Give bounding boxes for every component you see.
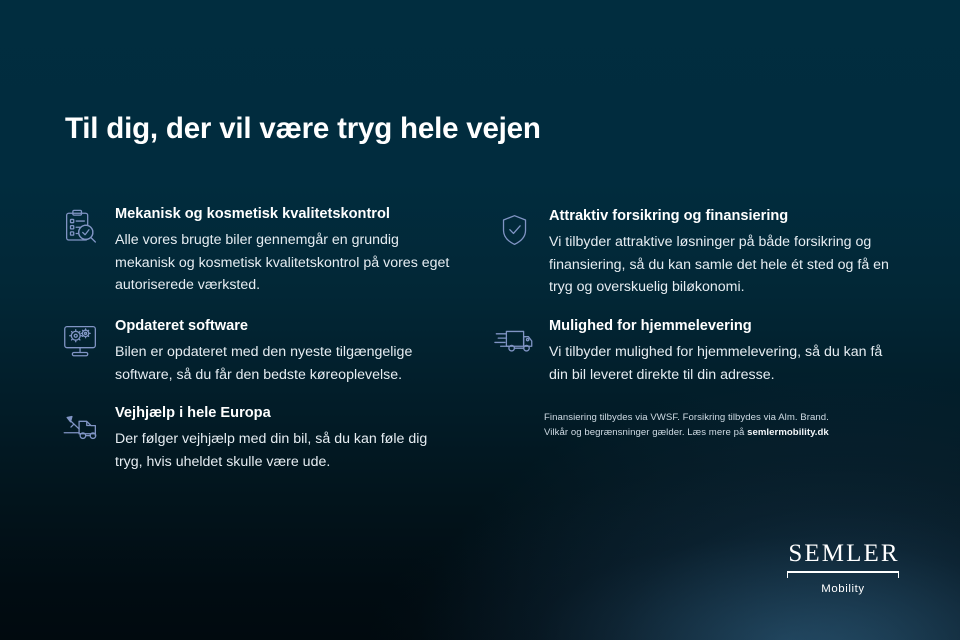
feature-title: Mekanisk og kosmetisk kvalitetskontrol [115, 205, 458, 224]
feature-title: Mulighed for hjemmelevering [549, 317, 902, 336]
fineprint-line-2-prefix: Vilkår og begrænsninger gælder. Læs mere… [544, 427, 747, 438]
monitor-gears-icon [58, 319, 104, 363]
feature-body: Attraktiv forsikring og finansiering Vi … [549, 207, 902, 299]
tow-truck-icon [58, 406, 104, 450]
shield-check-icon [492, 209, 538, 253]
feature-text: Alle vores brugte biler gennemgår en gru… [115, 229, 458, 297]
feature-body: Opdateret software Bilen er opdateret me… [115, 317, 458, 386]
feature-body: Mekanisk og kosmetisk kvalitetskontrol A… [115, 205, 458, 297]
logo-subtitle: Mobility [784, 582, 902, 596]
feature-title: Vejhjælp i hele Europa [115, 404, 458, 423]
feature-body: Mulighed for hjemmelevering Vi tilbyder … [549, 317, 902, 386]
slide-root: Til dig, der vil være tryg hele vejen [0, 0, 960, 640]
feature-text: Bilen er opdateret med den nyeste tilgæn… [115, 341, 458, 386]
fineprint-line-1: Finansiering tilbydes via VWSF. Forsikri… [544, 412, 829, 423]
feature-item-home-delivery: Mulighed for hjemmelevering Vi tilbyder … [492, 317, 902, 386]
feature-title: Opdateret software [115, 317, 458, 336]
delivery-truck-icon [492, 319, 538, 363]
feature-text: Der følger vejhjælp med din bil, så du k… [115, 428, 458, 473]
fineprint-website-link[interactable]: semlermobility.dk [747, 427, 829, 438]
feature-item-updated-software: Opdateret software Bilen er opdateret me… [58, 317, 458, 386]
feature-item-roadside-assistance: Vejhjælp i hele Europa Der følger vejhjæ… [58, 404, 458, 473]
logo-divider-rule [784, 571, 902, 579]
feature-title: Attraktiv forsikring og finansiering [549, 207, 902, 226]
semler-mobility-logo: SEMLER Mobility [784, 541, 902, 596]
feature-item-insurance-financing: Attraktiv forsikring og finansiering Vi … [492, 207, 902, 299]
clipboard-magnifier-icon [58, 207, 104, 251]
logo-wordmark: SEMLER [784, 541, 902, 567]
feature-text: Vi tilbyder attraktive løsninger på både… [549, 231, 902, 299]
legal-fineprint: Finansiering tilbydes via VWSF. Forsikri… [544, 410, 874, 440]
feature-item-quality-control: Mekanisk og kosmetisk kvalitetskontrol A… [58, 205, 458, 297]
feature-body: Vejhjælp i hele Europa Der følger vejhjæ… [115, 404, 458, 473]
page-title: Til dig, der vil være tryg hele vejen [65, 112, 541, 146]
feature-text: Vi tilbyder mulighed for hjemmelevering,… [549, 341, 902, 386]
